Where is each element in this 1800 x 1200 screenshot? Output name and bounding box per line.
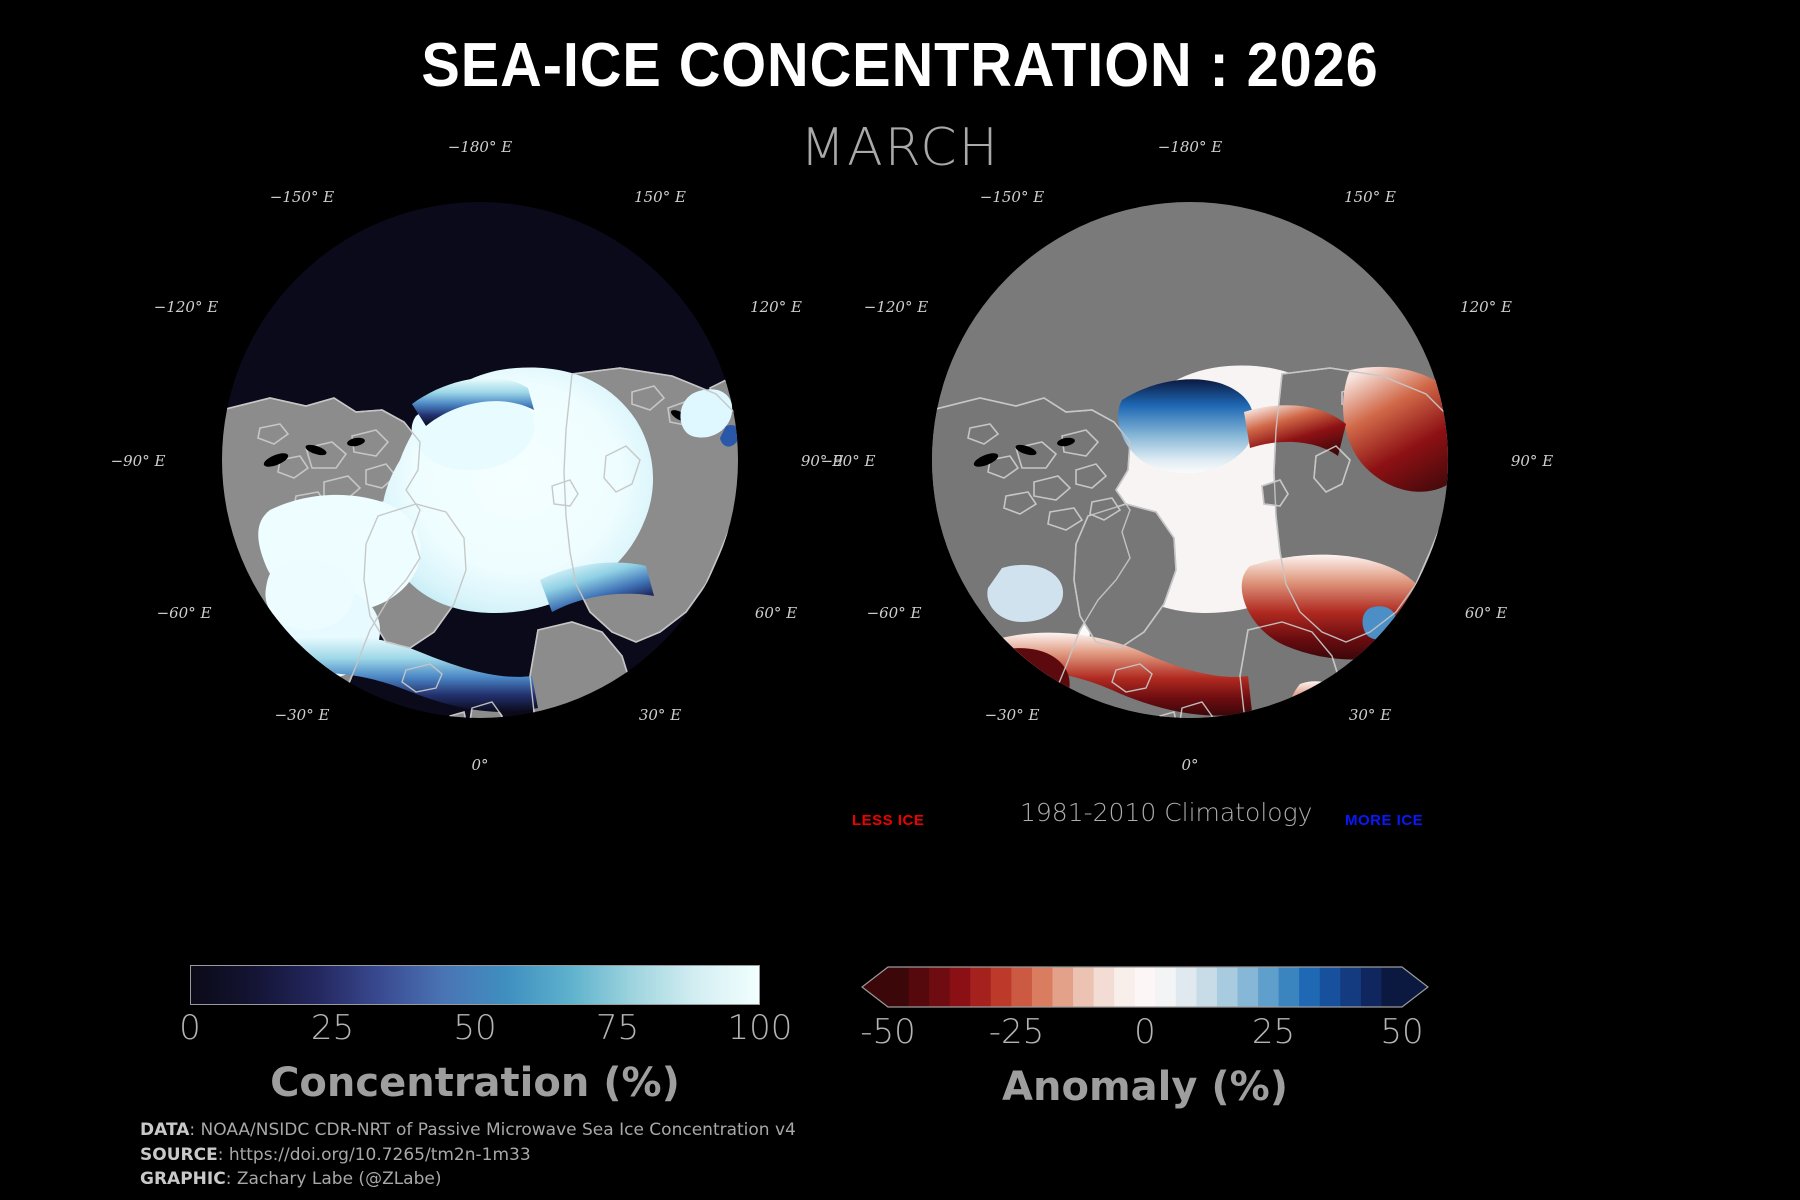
grat-label-9: −30° E [985,706,1040,724]
figure-root: SEA-ICE CONCENTRATION : 2026 MARCH [0,0,1800,1200]
concentration-map-panel: −180° E −150° E 150° E −120° E 120° E −9… [120,160,840,780]
anomaly-axis-label: Anomaly (%) [860,1064,1430,1110]
concentration-tick: 100 [728,1008,793,1048]
grat-label-10: 30° E [639,706,681,724]
grat-label-10: 30° E [1349,706,1391,724]
anomaly-tick: -25 [989,1012,1045,1052]
grat-label-5: −90° E [111,452,166,470]
footer-graphic-value: : Zachary Labe (@ZLabe) [226,1169,442,1189]
grat-label-9: −30° E [275,706,330,724]
concentration-axis-label: Concentration (%) [190,1060,760,1106]
anomaly-colorbar-gradient [860,965,1430,1009]
grat-label-11: 0° [1181,756,1198,774]
grat-label-4: 120° E [750,298,802,316]
anomaly-positive-baltic [1317,715,1337,738]
concentration-colorbar: 0255075100 Concentration (%) [190,965,760,1106]
grat-label-0: −180° E [1158,138,1222,156]
concentration-tick: 0 [179,1008,201,1048]
anomaly-tick: 0 [1134,1012,1156,1052]
anomaly-tick: 25 [1252,1012,1295,1052]
grat-label-1: −150° E [980,188,1044,206]
concentration-tick: 25 [311,1008,354,1048]
grat-label-1: −150° E [270,188,334,206]
page-title: SEA-ICE CONCENTRATION : 2026 [63,30,1737,101]
grat-label-11: 0° [471,756,488,774]
footer-data-label: DATA [140,1120,189,1140]
anomaly-map-panel: −180° E −150° E 150° E −120° E 120° E −9… [830,160,1550,780]
footer-source-line: SOURCE: https://doi.org/10.7265/tm2n-1m3… [140,1143,796,1168]
concentration-colorbar-ticks: 0255075100 [190,1008,760,1054]
anomaly-colorbar: -50-2502550 Anomaly (%) [860,965,1430,1110]
grat-label-2: 150° E [1344,188,1396,206]
climatology-note: 1981-2010 Climatology [1020,798,1312,827]
anomaly-colorbar-ticks: -50-2502550 [860,1012,1430,1058]
less-ice-label: LESS ICE [852,812,924,829]
sea-ice-baltic [599,692,627,722]
footer-source-value: : https://doi.org/10.7265/tm2n-1m33 [218,1145,531,1165]
grat-label-7: −60° E [867,604,922,622]
footer-graphic-label: GRAPHIC [140,1169,226,1189]
grat-label-3: −120° E [154,298,218,316]
grat-label-8: 60° E [755,604,797,622]
anomaly-tick: -50 [860,1012,916,1052]
footer-data-line: DATA: NOAA/NSIDC CDR-NRT of Passive Micr… [140,1118,796,1143]
concentration-tick: 50 [453,1008,496,1048]
footer-credits: DATA: NOAA/NSIDC CDR-NRT of Passive Micr… [140,1118,796,1192]
concentration-tick: 75 [596,1008,639,1048]
grat-label-7: −60° E [157,604,212,622]
footer-source-label: SOURCE [140,1145,218,1165]
grat-label-0: −180° E [448,138,512,156]
footer-data-value: : NOAA/NSIDC CDR-NRT of Passive Microwav… [189,1120,795,1140]
anomaly-positive-kara [1363,606,1397,639]
grat-label-5: −90° E [821,452,876,470]
anomaly-negative-baltic [1289,681,1349,740]
anomaly-tick: 50 [1380,1012,1423,1052]
grat-label-6: 90° E [1511,452,1553,470]
concentration-colorbar-gradient [190,965,760,1005]
more-ice-label: MORE ICE [1345,812,1423,829]
grat-label-2: 150° E [634,188,686,206]
grat-label-3: −120° E [864,298,928,316]
grat-label-4: 120° E [1460,298,1512,316]
grat-label-8: 60° E [1465,604,1507,622]
footer-graphic-line: GRAPHIC: Zachary Labe (@ZLabe) [140,1167,796,1192]
